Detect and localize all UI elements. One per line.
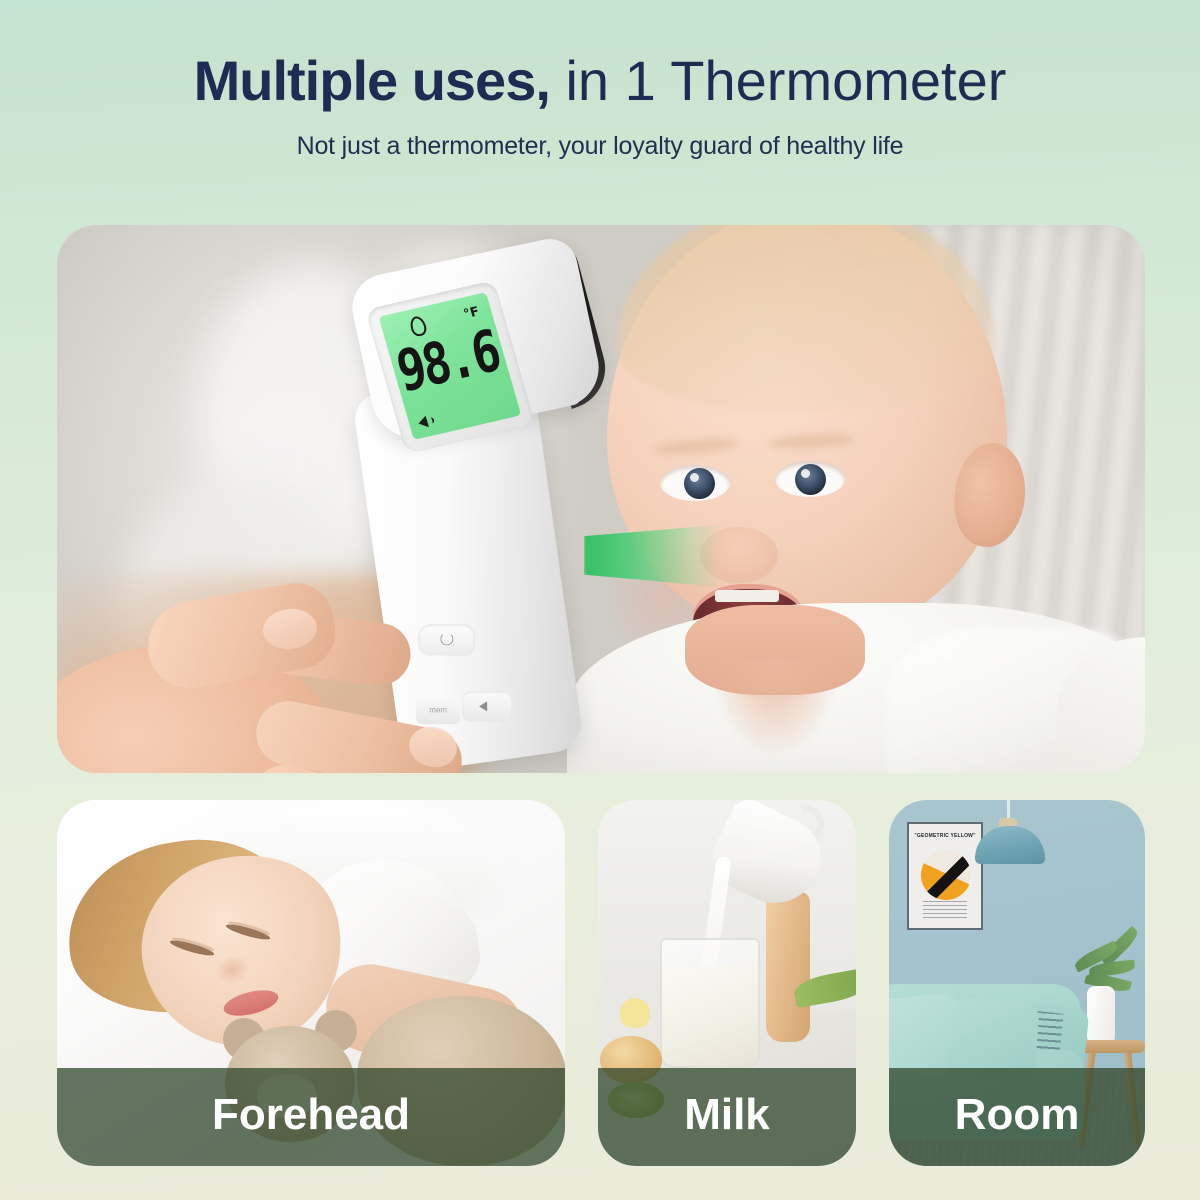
use-case-cards: Forehead Milk "GEOMETR [57, 800, 1145, 1166]
framed-poster: "GEOMETRIC YELLOW" [907, 822, 983, 930]
lcd-screen: °F 98.6 [379, 292, 522, 440]
page-subtitle: Not just a thermometer, your loyalty gua… [0, 132, 1200, 161]
page-title-emphasis: Multiple uses, [194, 49, 550, 112]
page-title: Multiple uses, in 1 Thermometer [0, 52, 1200, 111]
hero-image: mem °F 98.6 [57, 225, 1145, 773]
baby-iris [795, 464, 826, 495]
use-case-card-forehead[interactable]: Forehead [57, 800, 565, 1166]
flower-vase [1087, 986, 1115, 1048]
card-label-band: Milk [598, 1068, 856, 1166]
poster-title: "GEOMETRIC YELLOW" [909, 833, 981, 839]
speaker-icon [417, 416, 429, 430]
poster-caption-lines [923, 901, 967, 919]
yellow-flower [620, 998, 650, 1028]
milk-glass [660, 938, 760, 1068]
card-label-room: Room [955, 1093, 1080, 1141]
use-case-card-milk[interactable]: Milk [598, 800, 856, 1166]
hand-holding-device [57, 605, 527, 773]
use-case-card-room[interactable]: "GEOMETRIC YELLOW" Room [889, 800, 1145, 1166]
pepper-mill [766, 892, 810, 1042]
milk-liquid [662, 966, 758, 1066]
card-label-forehead: Forehead [212, 1093, 410, 1141]
baby-eye [660, 465, 730, 501]
baby-eye [775, 461, 845, 497]
baby-teeth [715, 590, 779, 602]
card-label-band: Room [889, 1068, 1145, 1166]
baby-hair [617, 225, 997, 411]
temperature-reading: 98.6 [388, 317, 508, 407]
baby-iris [684, 468, 715, 499]
poster-artwork [921, 850, 971, 900]
card-label-band: Forehead [57, 1068, 565, 1166]
page-title-rest: in 1 Thermometer [550, 49, 1006, 112]
baby-shirt-neckline [695, 659, 855, 773]
header: Multiple uses, in 1 Thermometer Not just… [0, 0, 1200, 161]
card-label-milk: Milk [684, 1093, 770, 1141]
